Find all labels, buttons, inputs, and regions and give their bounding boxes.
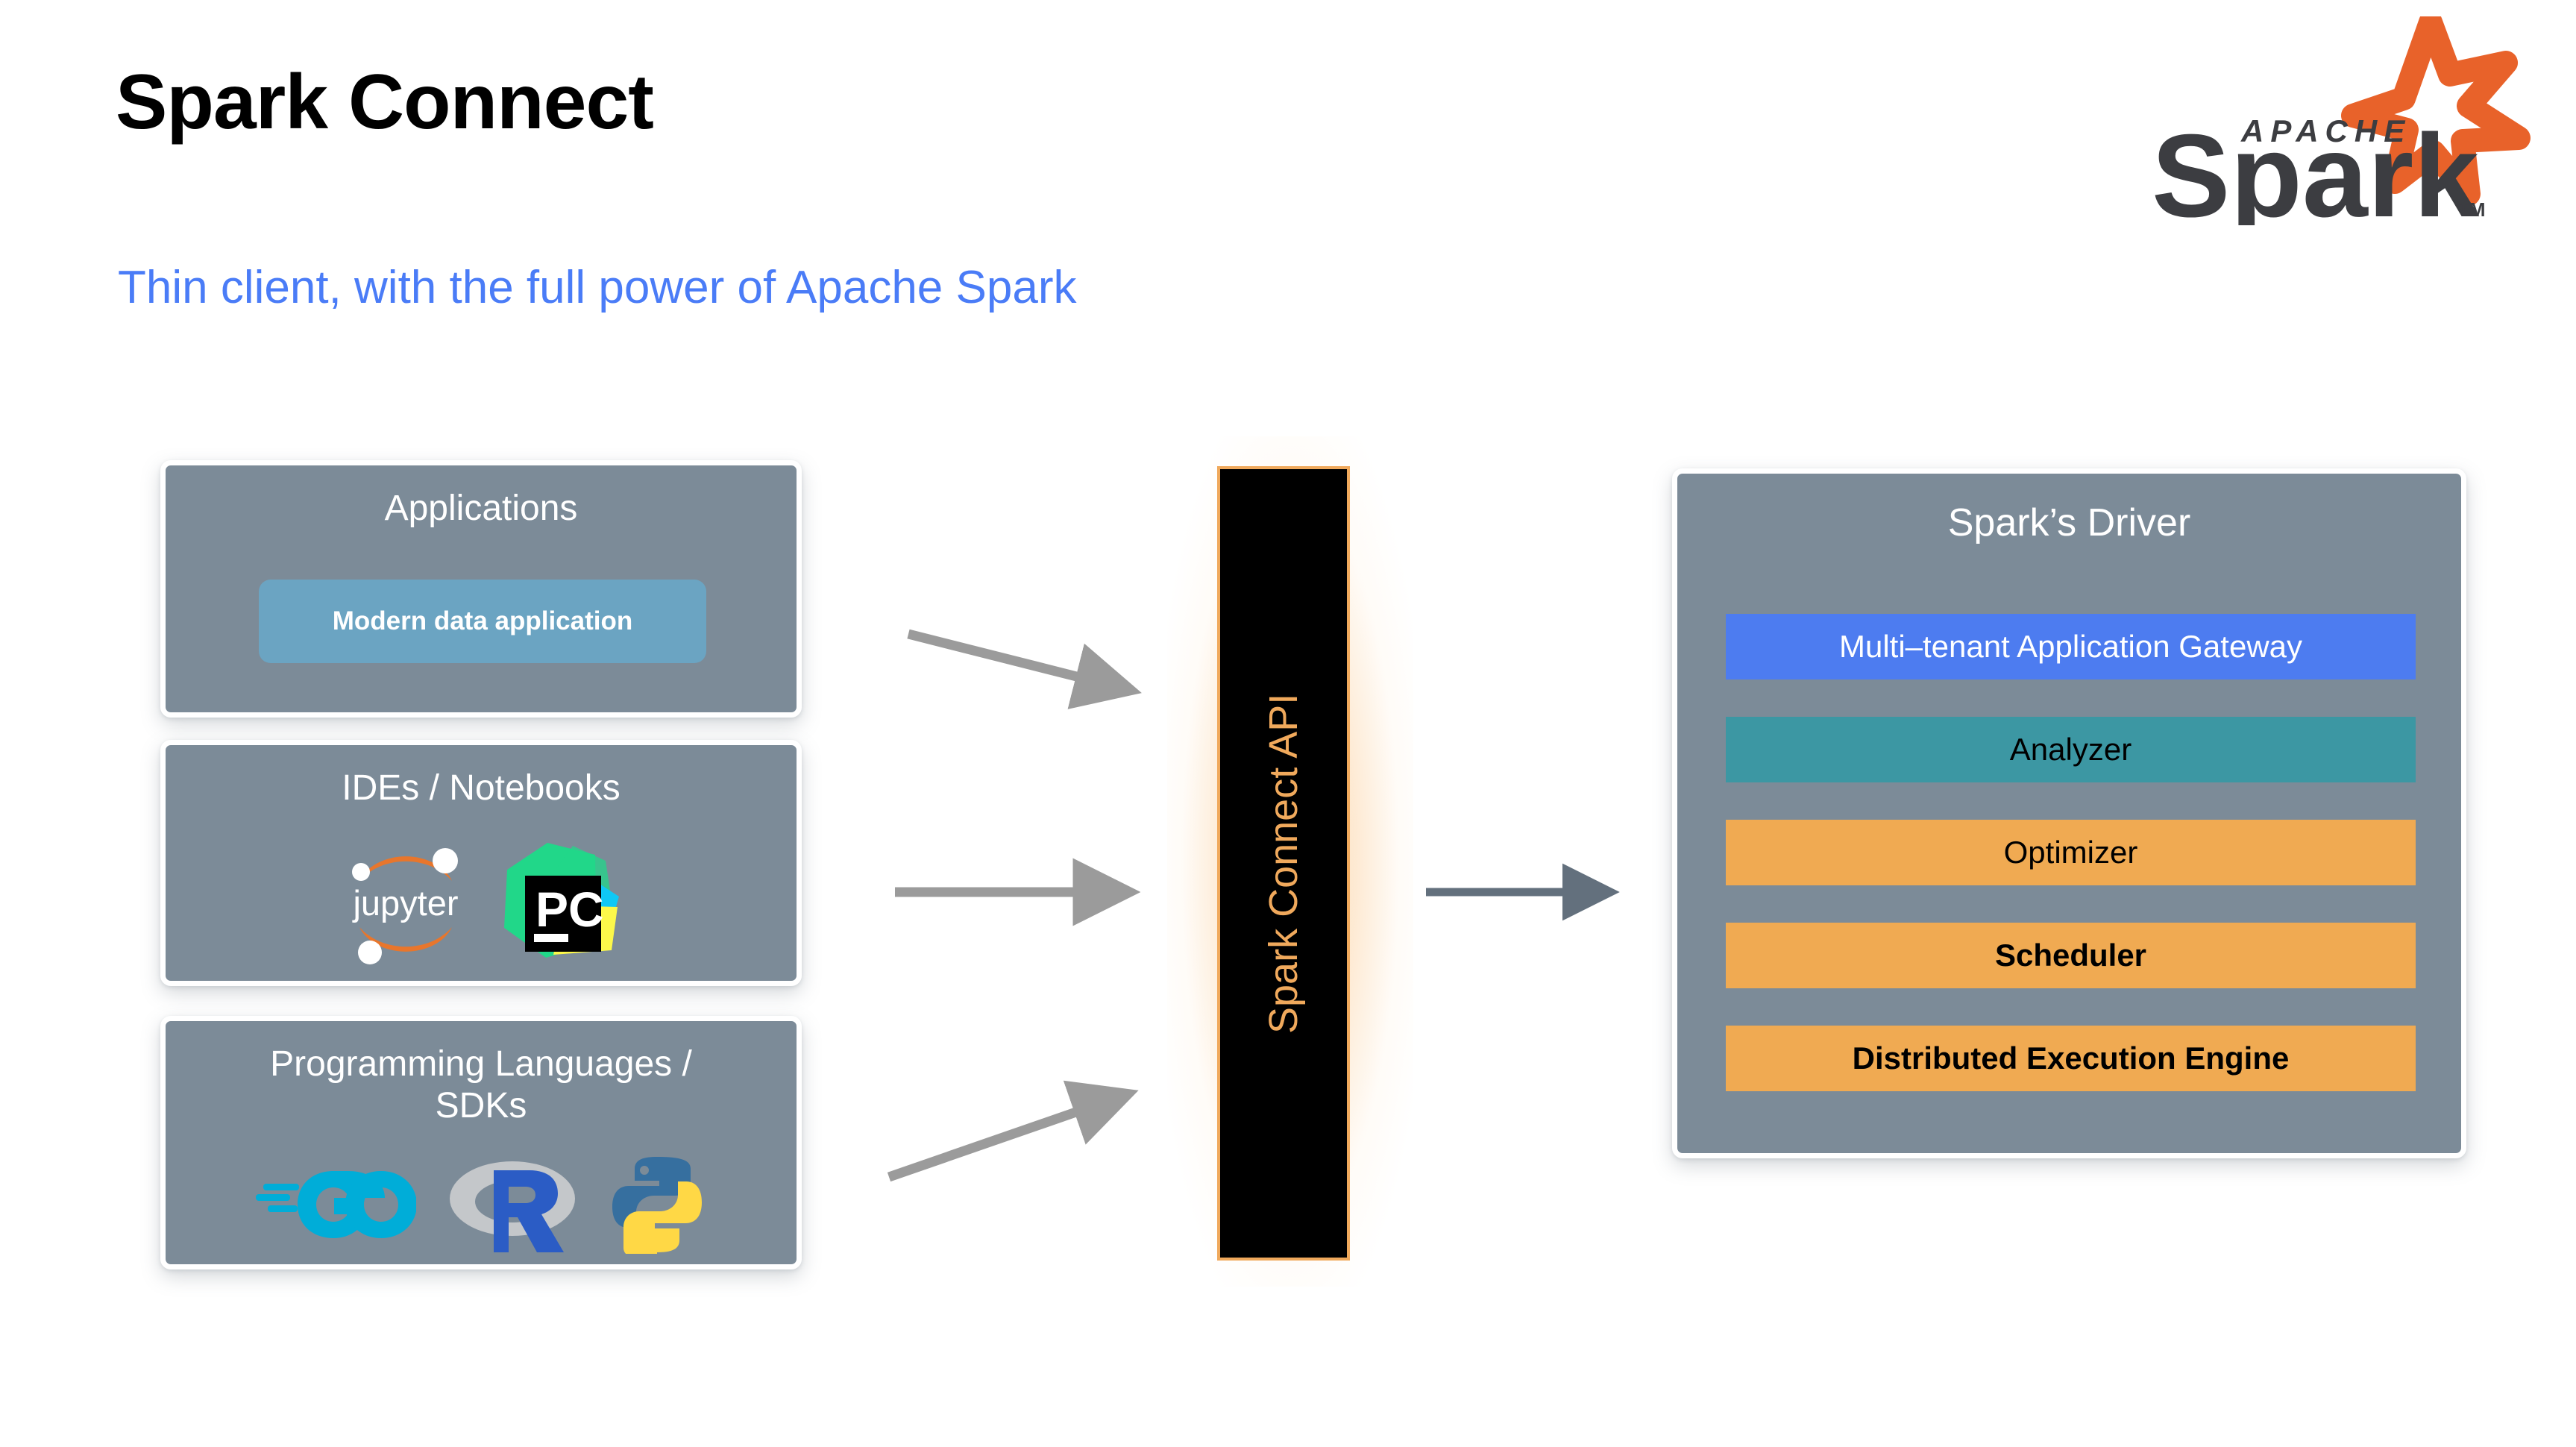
driver-layer-scheduler[interactable]: Scheduler	[1726, 923, 2416, 988]
arrow-applications-to-api	[908, 634, 1106, 684]
svg-text:PC: PC	[535, 882, 604, 937]
arrow-languages-to-api	[889, 1102, 1104, 1177]
slide-canvas: Spark Connect Thin client, with the full…	[0, 0, 2576, 1447]
box-programming-languages-title: Programming Languages / SDKs	[166, 1021, 797, 1126]
box-sparks-driver[interactable]: Spark’s Driver Multi–tenant Application …	[1672, 468, 2466, 1158]
r-logo	[447, 1155, 578, 1258]
box-ides-notebooks-title: IDEs / Notebooks	[166, 745, 797, 809]
box-applications-title: Applications	[166, 465, 797, 530]
go-logo	[256, 1160, 416, 1253]
box-langs-title-line2: SDKs	[166, 1085, 797, 1127]
box-sparks-driver-title: Spark’s Driver	[1677, 474, 2461, 545]
svg-text:jupyter: jupyter	[351, 883, 458, 923]
box-programming-languages[interactable]: Programming Languages / SDKs	[160, 1016, 802, 1269]
ides-logo-row: jupyter PC	[166, 835, 797, 969]
spark-connect-api-label: Spark Connect API	[1220, 469, 1347, 1258]
box-ides-notebooks[interactable]: IDEs / Notebooks jupyter	[160, 740, 802, 986]
box-langs-title-line1: Programming Languages /	[166, 1043, 797, 1085]
spark-connect-api-bar[interactable]: Spark Connect API	[1217, 466, 1350, 1261]
driver-layer-optimizer[interactable]: Optimizer	[1726, 820, 2416, 885]
driver-layer-analyzer[interactable]: Analyzer	[1726, 717, 2416, 782]
box-applications[interactable]: Applications Modern data application	[160, 460, 802, 718]
driver-layer-multi-tenant-application-gateway[interactable]: Multi–tenant Application Gateway	[1726, 614, 2416, 679]
languages-logo-row	[166, 1155, 797, 1258]
driver-layer-distributed-execution-engine[interactable]: Distributed Execution Engine	[1726, 1026, 2416, 1091]
python-logo	[609, 1155, 706, 1258]
jupyter-logo: jupyter	[339, 835, 473, 969]
modern-data-application-chip[interactable]: Modern data application	[259, 580, 706, 663]
pycharm-logo: PC	[501, 838, 624, 965]
